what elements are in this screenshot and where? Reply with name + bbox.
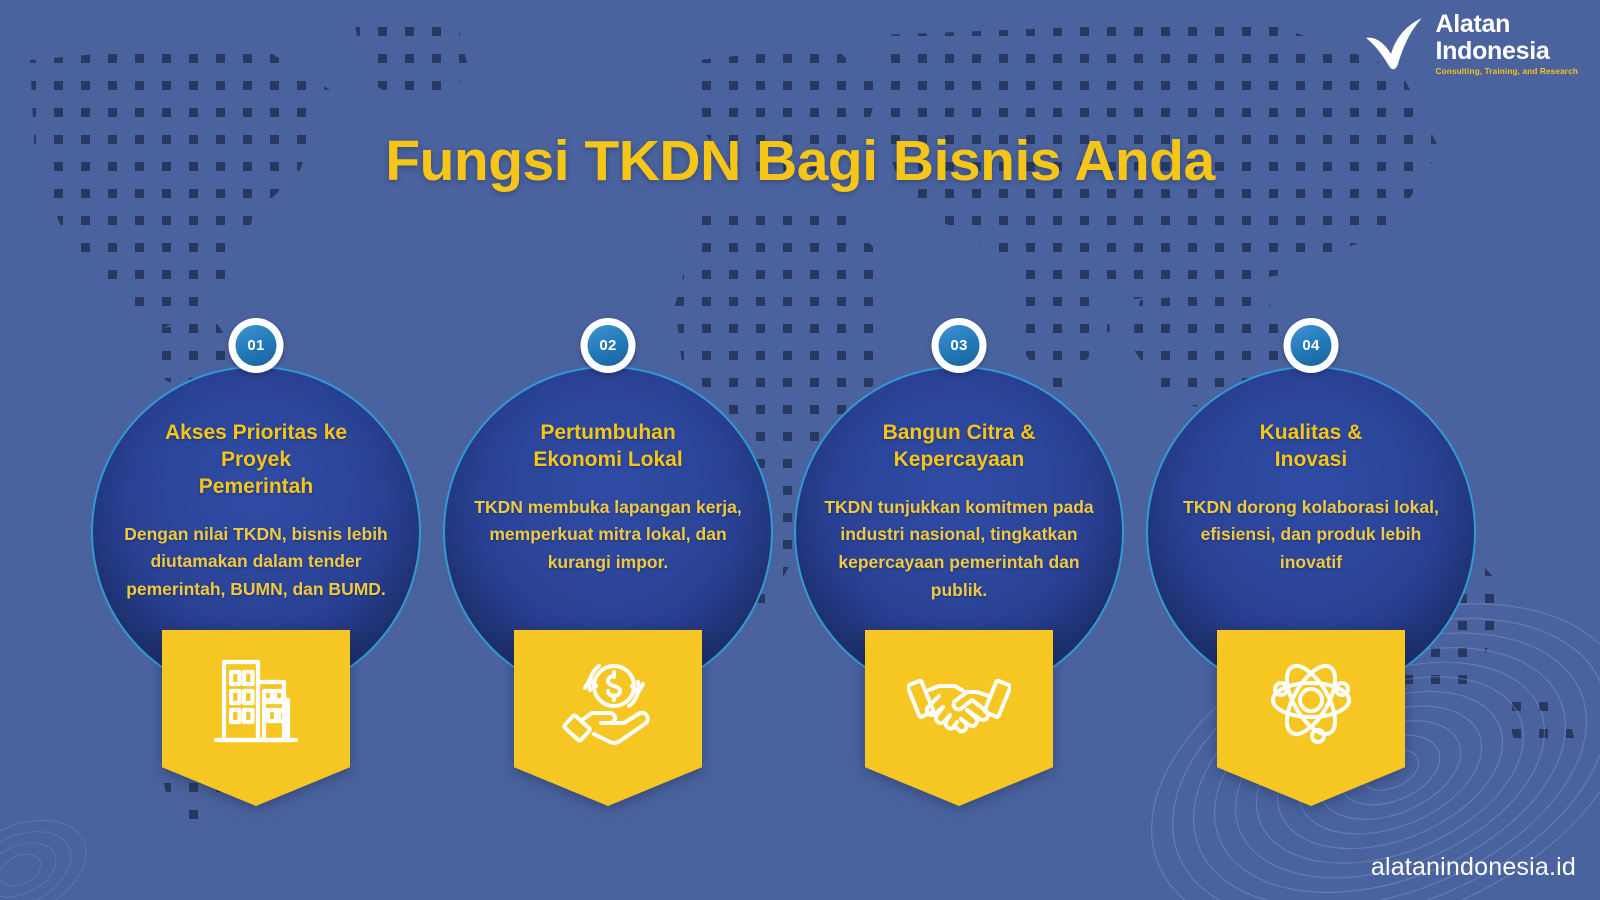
step-number-1: 01 (236, 325, 277, 366)
benefit-title-2: Pertumbuhan Ekonomi Lokal (533, 420, 682, 474)
handshake-icon (907, 648, 1011, 752)
benefit-title-1: Akses Prioritas ke Proyek Pemerintah (165, 420, 347, 501)
office-buildings-icon (204, 648, 308, 752)
footer-website-url[interactable]: alatanindonesia.id (1371, 853, 1576, 882)
atom-icon (1259, 648, 1363, 752)
page-title: Fungsi TKDN Bagi Bisnis Anda (0, 128, 1600, 194)
logo-line-1: Alatan (1436, 12, 1579, 37)
logo-tagline: Consulting, Training, and Research (1436, 68, 1579, 76)
icon-ribbon-1 (162, 630, 350, 806)
brand-logo: Alatan Indonesia Consulting, Training, a… (1364, 12, 1579, 76)
benefit-title-4: Kualitas & Inovasi (1260, 420, 1363, 474)
benefit-body-3: TKDN tunjukkan komitmen pada industri na… (818, 494, 1100, 605)
hand-holding-money-cycle-icon (556, 648, 660, 752)
benefit-body-2: TKDN membuka lapangan kerja, memperkuat … (467, 494, 749, 577)
icon-ribbon-3 (865, 630, 1053, 806)
benefit-body-4: TKDN dorong kolaborasi lokal, efisiensi,… (1170, 494, 1452, 577)
benefit-body-1: Dengan nilai TKDN, bisnis lebih diutamak… (115, 521, 397, 604)
icon-ribbon-4 (1217, 630, 1405, 806)
step-number-4: 04 (1291, 325, 1332, 366)
icon-ribbon-2 (514, 630, 702, 806)
infographic-canvas: Alatan Indonesia Consulting, Training, a… (0, 0, 1600, 900)
step-number-3: 03 (939, 325, 980, 366)
logo-line-2: Indonesia (1436, 39, 1579, 64)
step-badge-2: 02 (581, 318, 636, 373)
swoosh-check-bird-icon (1364, 16, 1426, 72)
step-badge-1: 01 (229, 318, 284, 373)
step-badge-4: 04 (1284, 318, 1339, 373)
benefit-title-3: Bangun Citra & Kepercayaan (883, 420, 1036, 474)
step-badge-3: 03 (932, 318, 987, 373)
step-number-2: 02 (588, 325, 629, 366)
